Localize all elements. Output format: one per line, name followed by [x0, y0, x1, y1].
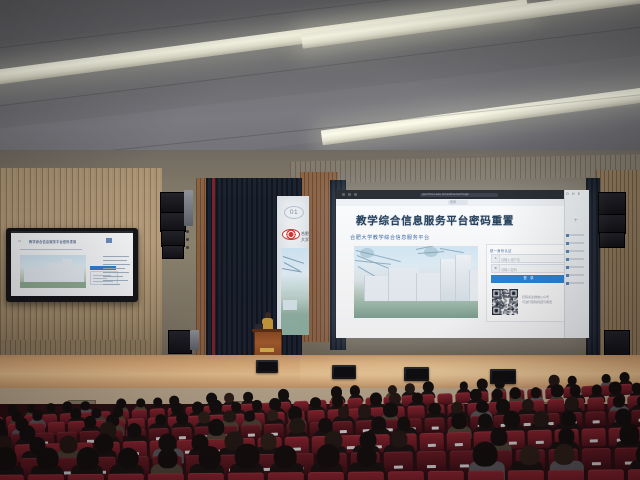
seat-number-tag	[432, 427, 439, 430]
audience-head	[472, 441, 497, 467]
auditorium-seat	[420, 433, 444, 452]
projection-side-strip: O H E +	[564, 190, 589, 338]
auditorium-seat	[0, 475, 24, 480]
audience-head	[358, 404, 372, 418]
audience-head	[478, 413, 493, 428]
seat-number-tag	[460, 464, 469, 468]
audience-head	[601, 374, 610, 383]
auditorium-seat	[547, 399, 565, 413]
audience-head	[176, 412, 189, 425]
login-form-label: 统一身份认证	[490, 248, 512, 253]
auditorium-seat	[68, 474, 104, 480]
auditorium-seat	[581, 428, 605, 447]
seat-number-tag	[536, 441, 544, 444]
slide-section-number: 01	[284, 206, 304, 219]
seat-number-tag	[340, 430, 347, 433]
audience-head	[136, 398, 146, 408]
campus-photo-water	[354, 301, 478, 318]
audience-head	[357, 446, 377, 466]
slide-subtitle: 合肥大学教学综合信息服务平台	[350, 234, 430, 241]
seat-number-tag	[592, 462, 601, 466]
audience-head	[592, 384, 603, 395]
seat-number-tag	[455, 443, 463, 446]
auditorium-seat	[28, 474, 64, 480]
auditorium-seat	[628, 469, 640, 480]
browser-titlebar: jwxt.hfuu.edu.cn/authserver/login	[336, 190, 582, 199]
wall-monitor-title: 教学综合信息服务平台密码重置	[29, 239, 76, 244]
auditorium-seat	[428, 471, 464, 480]
audience-head	[609, 382, 622, 395]
photo-scene: 01 教学综合信息服务平台密码重置	[0, 0, 640, 480]
audience-head	[60, 435, 78, 454]
audience-head	[244, 410, 256, 422]
slide-title: 教学综合信息服务平台密码重置	[356, 213, 514, 228]
seat-number-tag	[179, 436, 186, 439]
audience-head	[274, 445, 297, 468]
audience-head	[531, 387, 542, 398]
auditorium-seat	[582, 448, 611, 471]
audience-head	[509, 387, 521, 400]
user-icon: ●	[492, 255, 500, 262]
auditorium-seat	[424, 417, 445, 433]
wall-monitor-slide-number: 01	[18, 239, 21, 243]
auditorium-seat	[108, 474, 144, 480]
audience-head	[242, 392, 253, 403]
username-field[interactable]: ● 请输入用户名	[491, 254, 569, 263]
audience-head	[451, 413, 467, 430]
slide-org-label: 合肥大学	[301, 231, 309, 243]
audience-head	[95, 434, 114, 454]
login-form-card: 统一身份认证 ● 请输入用户名 ■ 请输入密码 登 录 扫码关注微信公众号 可进…	[486, 244, 572, 322]
audience-head	[310, 397, 321, 408]
seat-rows	[0, 398, 640, 480]
auditorium-seat	[188, 473, 224, 480]
audience-head	[70, 408, 81, 419]
seat-row	[0, 469, 640, 480]
podium-label	[260, 348, 274, 352]
audience-head	[405, 383, 415, 393]
audience-head	[567, 376, 576, 385]
auditorium-seat	[631, 409, 640, 425]
side-strip-header: O H E	[566, 192, 581, 196]
audience-head	[316, 444, 340, 468]
address-bar-text: jwxt.hfuu.edu.cn/authserver/login	[422, 192, 469, 196]
audience-head	[332, 396, 343, 408]
auditorium-seat	[228, 472, 264, 480]
audience-head	[503, 411, 520, 429]
audience-head	[612, 396, 624, 408]
audience-head	[533, 410, 550, 427]
audience-head	[632, 383, 640, 394]
login-submit-button[interactable]: 登 录	[491, 275, 567, 283]
username-placeholder: 请输入用户名	[501, 257, 520, 262]
auditorium-seat	[148, 473, 184, 480]
audience-head	[459, 381, 468, 390]
seat-number-tag	[590, 439, 598, 442]
audience-head	[261, 433, 277, 450]
audience-head	[37, 448, 59, 470]
audience-head	[391, 431, 408, 448]
auditorium-seat	[417, 451, 446, 474]
university-seal-icon	[282, 229, 300, 240]
audience-head	[223, 410, 236, 423]
slide-body: 教学综合信息服务平台密码重置 合肥大学教学综合信息服务平台	[336, 206, 582, 338]
audience-head	[412, 392, 423, 403]
wall-monitor-photo	[20, 255, 86, 288]
lock-icon: ■	[492, 265, 500, 272]
close-icon[interactable]	[342, 193, 345, 196]
auditorium-seat	[447, 432, 471, 451]
audience-head	[371, 416, 386, 431]
seat-number-tag	[248, 434, 255, 437]
audience-head	[570, 384, 582, 396]
seat-number-tag	[394, 465, 403, 469]
audience-head	[208, 419, 225, 437]
audience-head	[76, 447, 99, 470]
seat-number-tag	[427, 465, 436, 469]
audience-head	[494, 379, 504, 389]
browser-tab-label: 登录	[450, 200, 456, 204]
audience-head	[359, 431, 376, 449]
audience-head	[554, 443, 576, 465]
audience-head	[46, 403, 56, 413]
auditorium-seat	[587, 397, 605, 411]
audience-head	[234, 443, 259, 469]
audience-head	[551, 384, 564, 397]
seat-number-tag	[509, 442, 517, 445]
audience-head	[269, 398, 281, 410]
qr-note-line-2: 可进行密码找回与重置	[522, 300, 552, 304]
wall-monitor-screen: 01 教学综合信息服务平台密码重置	[11, 233, 133, 296]
audience-head	[565, 396, 579, 410]
projection-screen: jwxt.hfuu.edu.cn/authserver/login 登录 教学综…	[336, 190, 582, 338]
audience-head	[80, 401, 90, 411]
auditorium-seat	[268, 472, 304, 480]
audience-head	[117, 447, 138, 469]
maximize-icon[interactable]	[354, 193, 357, 196]
qr-code-icon[interactable]	[492, 289, 518, 315]
campus-photo	[354, 246, 478, 318]
audience-head	[158, 448, 178, 468]
audience-head	[469, 389, 481, 402]
audience-head	[127, 423, 141, 438]
audience-head	[252, 400, 263, 411]
secondary-slide-panel: 01 合肥大学	[277, 196, 309, 335]
university-logo-icon	[106, 238, 128, 243]
minimize-icon[interactable]	[348, 193, 351, 196]
audience-head	[619, 423, 639, 444]
auditorium-seat	[468, 470, 504, 480]
password-field[interactable]: ■ 请输入密码	[491, 264, 569, 273]
audience-head	[519, 445, 539, 465]
audience-head	[153, 397, 162, 406]
audience-head	[397, 416, 411, 430]
auditorium-seat	[585, 411, 606, 427]
auditorium-seat	[588, 469, 624, 480]
auditorium-seat	[548, 470, 584, 480]
audience-head	[558, 428, 574, 445]
plus-icon: +	[574, 218, 578, 224]
audience-head	[209, 400, 222, 413]
qr-note-line-1: 扫码关注微信公众号	[522, 295, 549, 299]
audience-head	[428, 402, 441, 415]
auditorium-seat	[388, 471, 424, 480]
audience-head	[383, 402, 398, 417]
auditorium-seat	[348, 471, 384, 480]
password-placeholder: 请输入密码	[501, 267, 517, 272]
audience-head	[561, 411, 576, 426]
seat-number-tag	[593, 421, 600, 424]
audience-head	[522, 399, 534, 411]
audience-head	[32, 410, 42, 421]
audience-head	[615, 409, 631, 425]
auditorium-seat	[508, 470, 544, 480]
auditorium-seat	[308, 472, 344, 480]
auditorium-seat	[407, 405, 425, 419]
audience-head	[198, 446, 220, 469]
audience-head	[289, 418, 305, 434]
seat-number-tag	[428, 444, 436, 447]
slide-campus-photo	[281, 248, 309, 335]
audience-head	[155, 414, 166, 426]
